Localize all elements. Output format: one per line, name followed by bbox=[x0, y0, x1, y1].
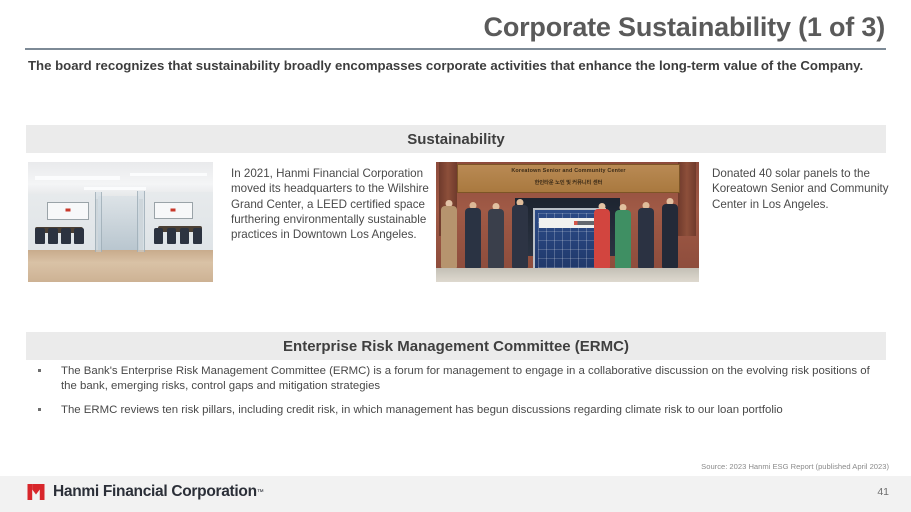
source-note: Source: 2023 Hanmi ESG Report (published… bbox=[701, 462, 889, 471]
community-center-sign: Koreatown Senior and Community Center 한인… bbox=[457, 164, 680, 192]
list-item-text: The Bank's Enterprise Risk Management Co… bbox=[61, 365, 870, 392]
page-number: 41 bbox=[877, 486, 889, 498]
list-item: The ERMC reviews ten risk pillars, inclu… bbox=[26, 403, 886, 418]
section-banner-sustainability: Sustainability bbox=[26, 125, 886, 153]
bullet-dot-icon bbox=[38, 408, 41, 411]
title-divider-rule bbox=[25, 48, 886, 50]
trademark-symbol: ™ bbox=[257, 489, 264, 496]
hanmi-logo-text: Hanmi Financial Corporation bbox=[53, 483, 257, 501]
community-center-sign-line1: Koreatown Senior and Community Center bbox=[458, 168, 679, 174]
section-banner-ermc-label: Enterprise Risk Management Committee (ER… bbox=[283, 338, 629, 355]
solar-panel-donation-photo: Koreatown Senior and Community Center 한인… bbox=[436, 162, 699, 282]
slide-subtitle: The board recognizes that sustainability… bbox=[28, 56, 868, 75]
office-interior-caption: In 2021, Hanmi Financial Corporation mov… bbox=[231, 166, 429, 242]
section-banner-ermc: Enterprise Risk Management Committee (ER… bbox=[26, 332, 886, 360]
hanmi-logo: Hanmi Financial Corporation ™ bbox=[26, 482, 264, 502]
ermc-bullet-list: The Bank's Enterprise Risk Management Co… bbox=[26, 364, 886, 428]
list-item-text: The ERMC reviews ten risk pillars, inclu… bbox=[61, 404, 783, 416]
list-item: The Bank's Enterprise Risk Management Co… bbox=[26, 364, 886, 394]
sustainability-content-row: In 2021, Hanmi Financial Corporation mov… bbox=[26, 162, 886, 287]
page-title: Corporate Sustainability (1 of 3) bbox=[484, 12, 885, 43]
office-interior-photo bbox=[28, 162, 213, 282]
section-banner-sustainability-label: Sustainability bbox=[407, 131, 505, 148]
community-center-sign-line2: 한인타운 노인 및 커뮤니티 센터 bbox=[458, 179, 679, 186]
hanmi-logo-mark bbox=[26, 482, 46, 502]
solar-panel-donation-caption: Donated 40 solar panels to the Koreatown… bbox=[712, 166, 890, 212]
slide-footer: Hanmi Financial Corporation ™ 41 bbox=[0, 476, 911, 512]
bullet-dot-icon bbox=[38, 369, 41, 372]
